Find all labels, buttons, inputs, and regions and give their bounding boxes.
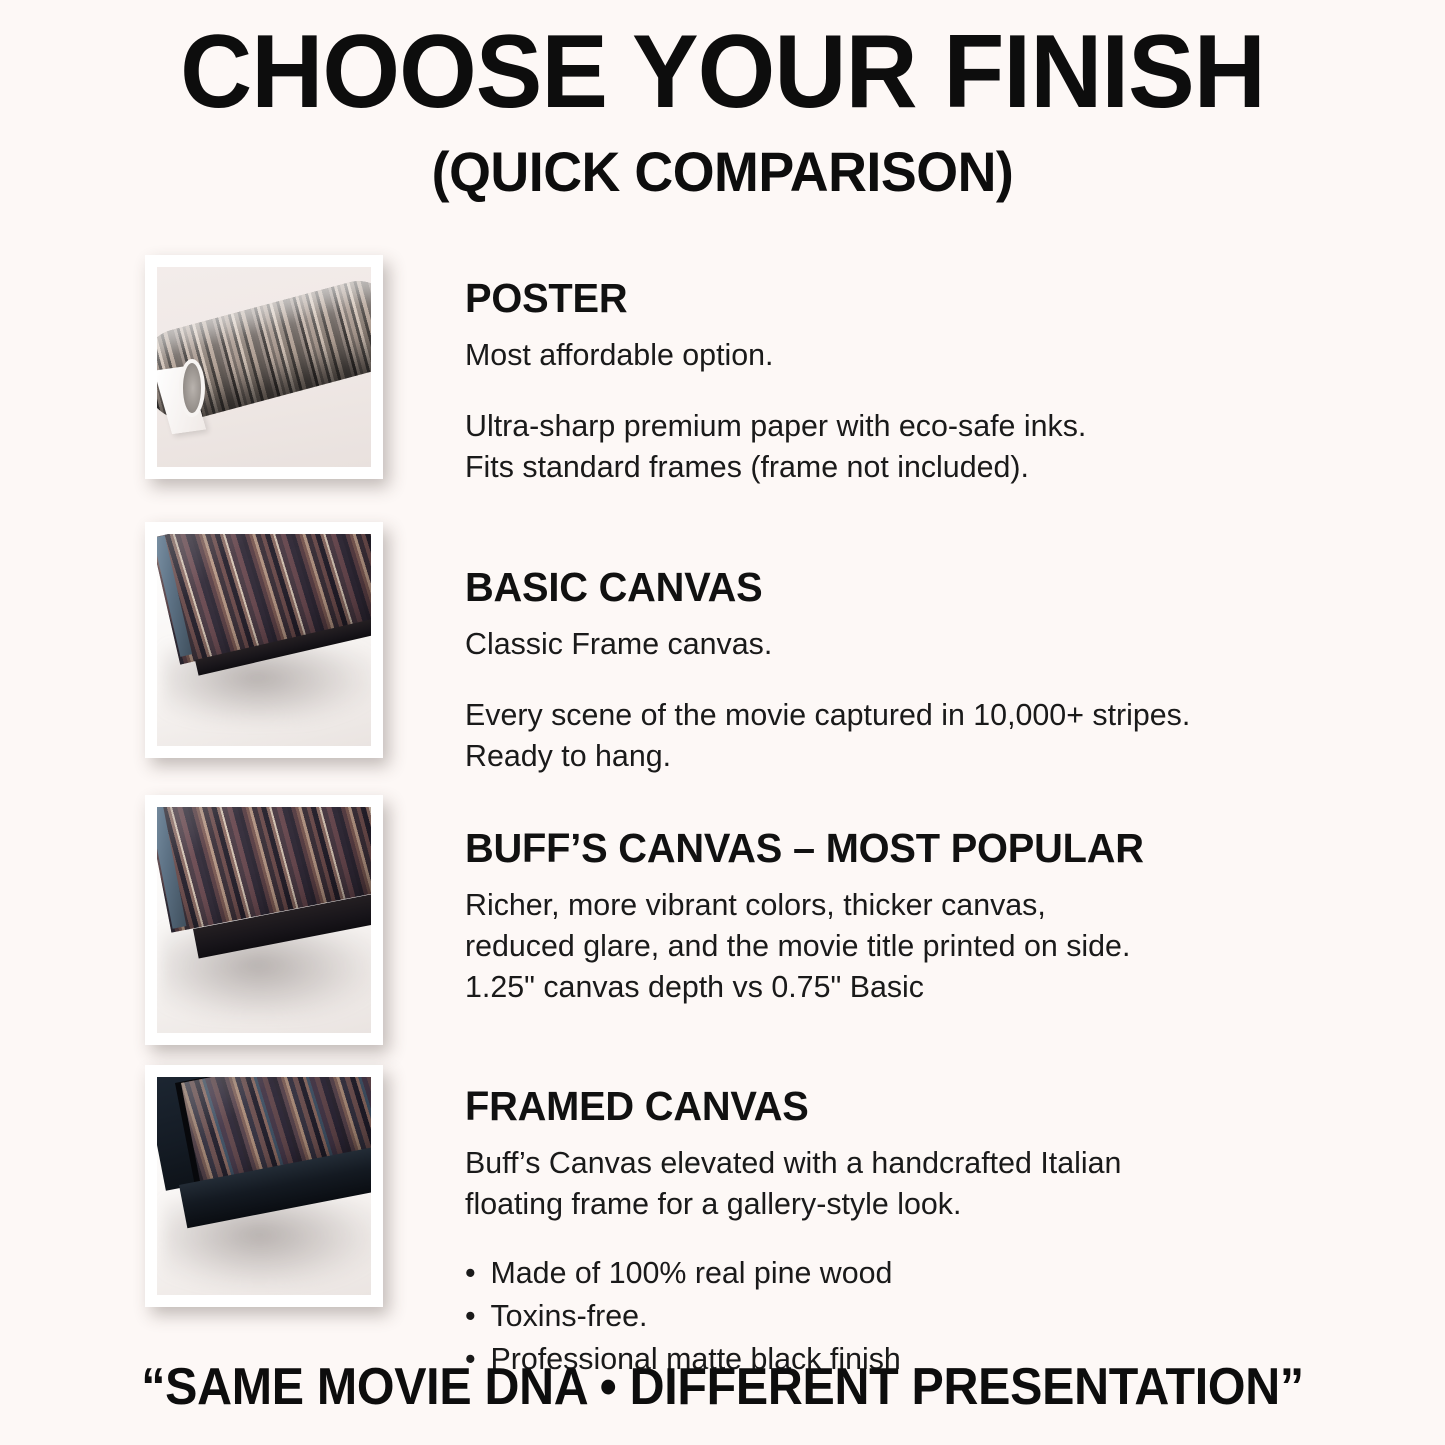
item-body-line: Richer, more vibrant colors, thicker can… [465,887,1046,922]
item-body-line: Buff’s Canvas elevated with a handcrafte… [465,1145,1121,1180]
item-body-line: 1.25" canvas depth vs 0.75" Basic [465,969,924,1004]
list-item: Toxins-free. [465,1295,1210,1338]
item-lead-poster: Most affordable option. [465,334,1210,375]
item-body-line: Ready to hang. [465,738,671,773]
item-body-poster: Ultra-sharp premium paper with eco-safe … [465,405,1210,487]
page-footer: “SAME MOVIE DNA • DIFFERENT PRESENTATION… [0,1357,1445,1417]
framed-canvas-photo-card [145,1065,383,1307]
footer-tagline: “SAME MOVIE DNA • DIFFERENT PRESENTATION… [51,1357,1395,1417]
basic-canvas-photo-card [145,522,383,758]
poster-text-block: POSTER Most affordable option. Ultra-sha… [465,275,1225,488]
list-item: Made of 100% real pine wood [465,1252,1210,1295]
item-body-buffs-canvas: Richer, more vibrant colors, thicker can… [465,884,1210,1008]
buffs-canvas-photo-card [145,795,383,1045]
item-title-buffs-canvas: BUFF’S CANVAS – MOST POPULAR [465,825,1202,872]
rolled-poster-photo [157,267,371,467]
basic-canvas-text-block: BASIC CANVAS Classic Frame canvas. Every… [465,564,1225,777]
rolled-poster-photo-card [145,255,383,479]
framed-canvas-corner-photo [157,1077,371,1295]
buffs-canvas-corner-photo [157,807,371,1033]
buffs-canvas-text-block: BUFF’S CANVAS – MOST POPULAR Richer, mor… [465,825,1225,1008]
basic-canvas-corner-photo [157,534,371,746]
item-title-basic-canvas: BASIC CANVAS [465,564,1202,611]
framed-canvas-text-block: FRAMED CANVAS Buff’s Canvas elevated wit… [465,1083,1225,1381]
page-title: CHOOSE YOUR FINISH [29,18,1416,127]
item-body-line: Fits standard frames (frame not included… [465,449,1029,484]
item-title-poster: POSTER [465,275,1202,322]
item-body-line: floating frame for a gallery-style look. [465,1186,961,1221]
item-body-framed-canvas: Buff’s Canvas elevated with a handcrafte… [465,1142,1210,1224]
item-lead-basic-canvas: Classic Frame canvas. [465,623,1210,664]
item-title-framed-canvas: FRAMED CANVAS [465,1083,1202,1130]
page-header: CHOOSE YOUR FINISH (QUICK COMPARISON) [0,0,1445,203]
item-body-line: reduced glare, and the movie title print… [465,928,1130,963]
item-body-line: Every scene of the movie captured in 10,… [465,697,1190,732]
page-subtitle: (QUICK COMPARISON) [29,141,1416,203]
item-body-line: Ultra-sharp premium paper with eco-safe … [465,408,1086,443]
item-body-basic-canvas: Every scene of the movie captured in 10,… [465,694,1210,776]
poster-roll-end [179,359,205,417]
